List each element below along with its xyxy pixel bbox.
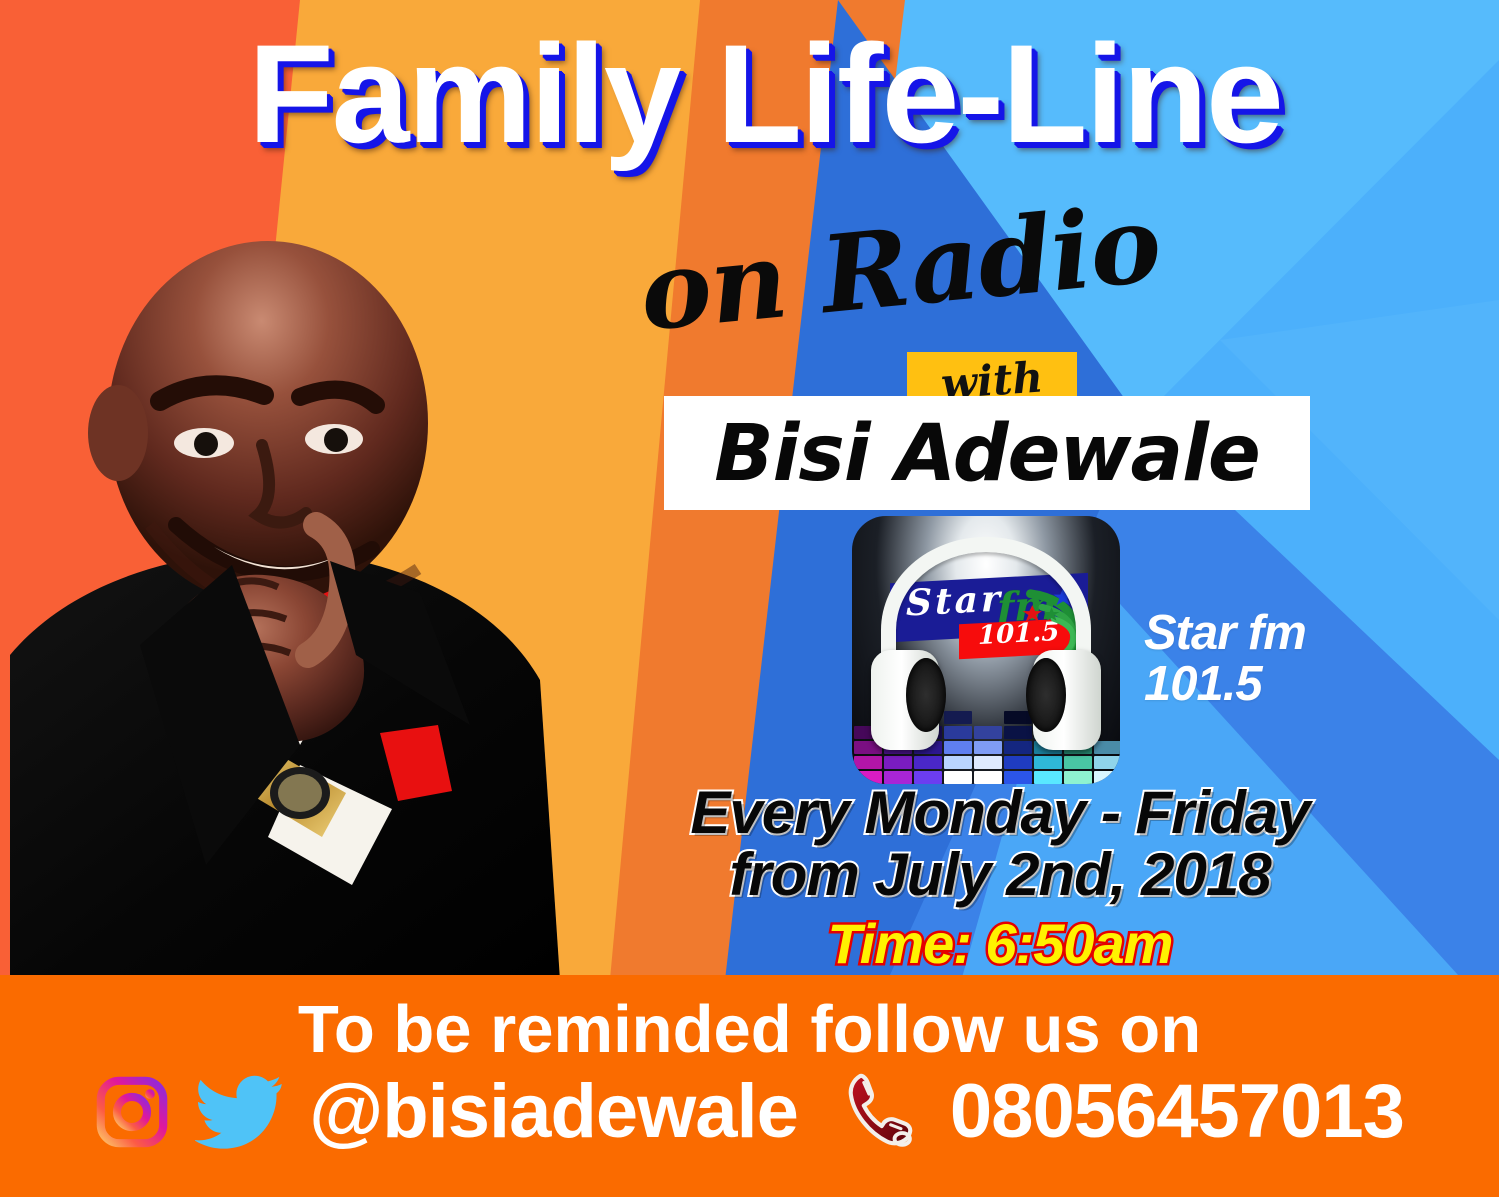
eq-cell bbox=[974, 726, 1002, 739]
footer-bar: To be reminded follow us on bbox=[0, 975, 1499, 1197]
eq-column bbox=[944, 711, 972, 784]
eq-cell bbox=[944, 711, 972, 724]
eq-cell bbox=[1034, 756, 1062, 769]
phone-handset-icon bbox=[842, 1071, 924, 1153]
instagram-icon[interactable] bbox=[95, 1075, 169, 1149]
station-name-line2: 101.5 bbox=[1144, 659, 1306, 710]
schedule-days: Every Monday - Friday bbox=[610, 782, 1390, 844]
eq-cell bbox=[974, 756, 1002, 769]
eq-column bbox=[974, 726, 1002, 784]
eq-cell bbox=[1064, 756, 1092, 769]
eq-cell bbox=[944, 726, 972, 739]
pupil-left bbox=[194, 432, 218, 456]
eq-cell bbox=[854, 756, 882, 769]
eq-cell bbox=[1094, 741, 1120, 754]
eq-column bbox=[1004, 711, 1032, 784]
host-photo bbox=[0, 225, 620, 980]
eq-cell bbox=[974, 741, 1002, 754]
eq-cell bbox=[1004, 756, 1032, 769]
head bbox=[108, 241, 428, 605]
twitter-icon[interactable] bbox=[195, 1075, 283, 1149]
pupil-right bbox=[324, 428, 348, 452]
host-photo-illustration bbox=[0, 225, 620, 980]
schedule-block: Every Monday - Friday from July 2nd, 201… bbox=[610, 782, 1390, 976]
schedule-time: Time: 6:50am bbox=[610, 911, 1390, 976]
social-handle[interactable]: @bisiadewale bbox=[309, 1074, 798, 1150]
station-logo: Star fm 101.5 bbox=[852, 516, 1120, 784]
phone-number[interactable]: 08056457013 bbox=[950, 1074, 1404, 1150]
eq-cell bbox=[1094, 756, 1120, 769]
eq-cell bbox=[944, 756, 972, 769]
station-name: Star fm 101.5 bbox=[1144, 608, 1306, 710]
footer-cta: To be reminded follow us on bbox=[0, 991, 1499, 1068]
eq-cell bbox=[1004, 726, 1032, 739]
host-name-plate: Bisi Adewale bbox=[664, 396, 1310, 510]
schedule-start-date: from July 2nd, 2018 bbox=[610, 844, 1390, 906]
eq-cell bbox=[914, 756, 942, 769]
wristwatch-dial bbox=[278, 774, 322, 812]
host-name: Bisi Adewale bbox=[664, 396, 1310, 512]
headphone-earpad-left bbox=[906, 658, 946, 732]
station-name-line1: Star fm bbox=[1144, 608, 1306, 659]
page-title: Family Life-Line bbox=[95, 24, 1435, 164]
eq-cell bbox=[944, 741, 972, 754]
eq-cell bbox=[884, 756, 912, 769]
social-row: @bisiadewale 08056457013 bbox=[0, 1071, 1499, 1153]
ear bbox=[88, 385, 148, 481]
eq-cell bbox=[1004, 741, 1032, 754]
poster-root: Family Life-Line on Radio with Bisi Adew… bbox=[0, 0, 1499, 1197]
